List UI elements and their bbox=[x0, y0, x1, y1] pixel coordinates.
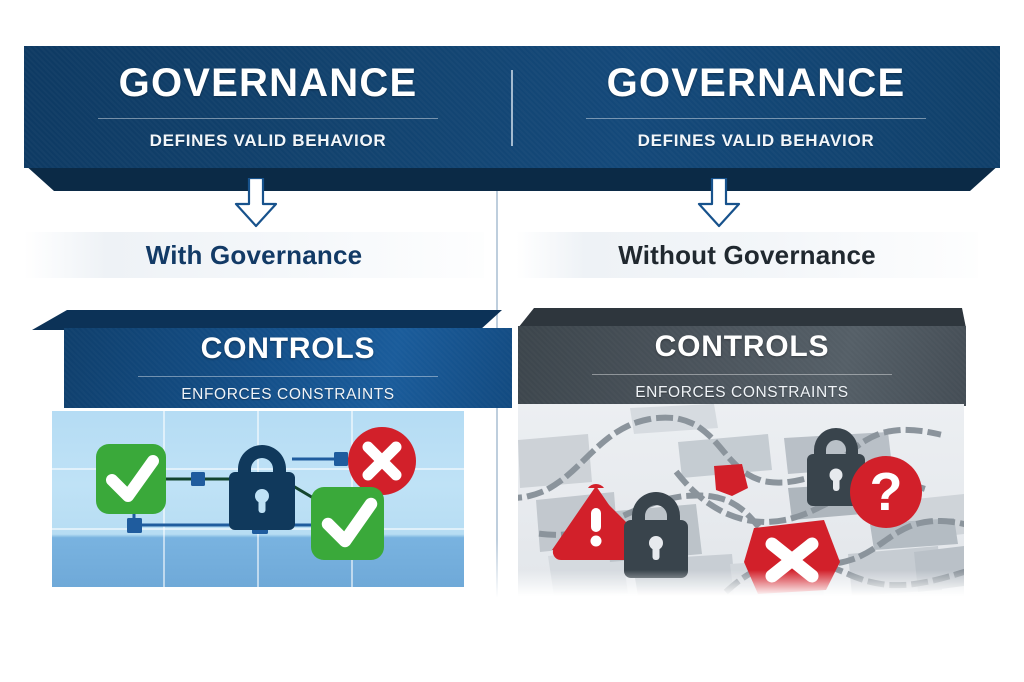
svg-text:?: ? bbox=[870, 462, 903, 522]
banner-right-subtitle: DEFINES VALID BEHAVIOR bbox=[638, 131, 875, 151]
down-arrow-icon-left bbox=[233, 178, 279, 228]
banner-left-governance: GOVERNANCE DEFINES VALID BEHAVIOR bbox=[24, 46, 512, 168]
x-icon-circle bbox=[348, 427, 416, 495]
controls-box-left: CONTROLS ENFORCES CONSTRAINTS bbox=[32, 310, 502, 410]
question-mark-icon: ? bbox=[850, 456, 922, 528]
controls-right-rule bbox=[592, 374, 892, 375]
controls-left-subtitle: ENFORCES CONSTRAINTS bbox=[181, 386, 395, 404]
banner-bevel-shadow bbox=[24, 164, 1000, 191]
check-icon-tile-2 bbox=[311, 487, 384, 560]
banner-right-governance: GOVERNANCE DEFINES VALID BEHAVIOR bbox=[512, 46, 1000, 168]
lock-closed-icon-right-1 bbox=[624, 492, 688, 578]
lock-closed-icon-left bbox=[229, 445, 295, 530]
label-without-governance: Without Governance bbox=[618, 240, 876, 271]
label-band-with-governance: With Governance bbox=[24, 232, 484, 278]
label-band-without-governance: Without Governance bbox=[516, 232, 978, 278]
banner-right-title: GOVERNANCE bbox=[607, 63, 906, 103]
banner-left-title: GOVERNANCE bbox=[119, 63, 418, 103]
controls-right-body: CONTROLS ENFORCES CONSTRAINTS bbox=[518, 326, 966, 406]
banner-left-subtitle: DEFINES VALID BEHAVIOR bbox=[150, 131, 387, 151]
banner-right-rule bbox=[586, 118, 926, 119]
governance-banner: GOVERNANCE DEFINES VALID BEHAVIOR GOVERN… bbox=[24, 46, 1000, 191]
label-with-governance: With Governance bbox=[146, 240, 363, 271]
down-arrow-icon-right bbox=[696, 178, 742, 228]
controls-box-right: CONTROLS ENFORCES CONSTRAINTS bbox=[502, 308, 980, 408]
banner-left-rule bbox=[98, 118, 438, 119]
torn-fragment-icon bbox=[714, 464, 748, 496]
check-icon-tile-1 bbox=[96, 444, 166, 514]
infographic-canvas: GOVERNANCE DEFINES VALID BEHAVIOR GOVERN… bbox=[0, 0, 1024, 682]
controls-left-body: CONTROLS ENFORCES CONSTRAINTS bbox=[64, 328, 512, 408]
scene-with-governance bbox=[52, 411, 464, 587]
controls-right-title: CONTROLS bbox=[655, 330, 830, 364]
scene-right-fade bbox=[518, 570, 964, 596]
controls-right-subtitle: ENFORCES CONSTRAINTS bbox=[635, 384, 849, 402]
scene-without-governance: ? bbox=[518, 404, 964, 596]
controls-left-rule bbox=[138, 376, 438, 377]
controls-left-title: CONTROLS bbox=[201, 332, 376, 366]
